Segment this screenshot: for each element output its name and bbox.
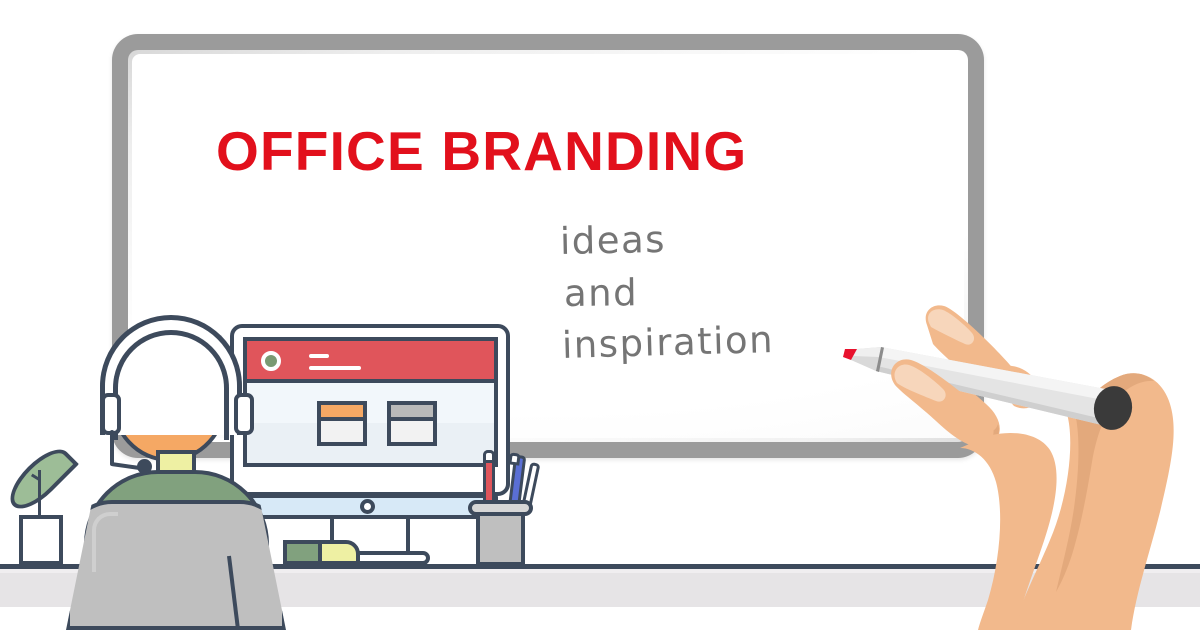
headset-earcup-left — [101, 393, 121, 435]
banner-canvas: OFFICE BRANDING ideas and inspiration — [0, 0, 1200, 630]
marker-cone-highlight — [853, 347, 881, 357]
headset-earcup-right — [234, 393, 254, 435]
headset-mic-tip-icon — [137, 459, 152, 474]
illustration-scene: OFFICE BRANDING ideas and inspiration — [0, 0, 1200, 630]
headset-mic-arm — [110, 430, 114, 466]
headset-band-inner — [113, 330, 229, 440]
